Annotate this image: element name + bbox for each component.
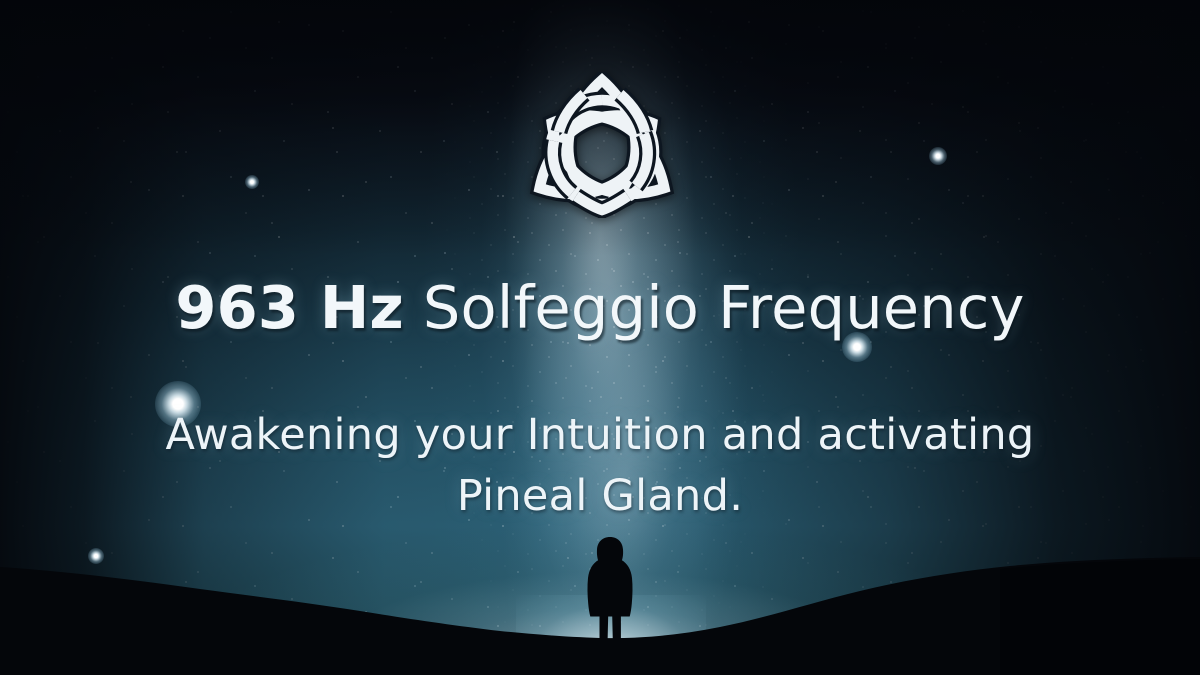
subtitle-line-1: Awakening your Intuition and activating (90, 405, 1110, 466)
subtitle-line-2: Pineal Gland. (90, 466, 1110, 527)
title-frequency: 963 Hz (175, 273, 404, 342)
thumbnail-canvas: 963 Hz Solfeggio Frequency Awakening you… (0, 0, 1200, 675)
title: 963 Hz Solfeggio Frequency (0, 276, 1200, 340)
ground-ridge (0, 545, 1200, 675)
title-rest: Solfeggio Frequency (404, 273, 1025, 342)
subtitle: Awakening your Intuition and activating … (90, 405, 1110, 527)
triquetra-icon (516, 72, 688, 218)
